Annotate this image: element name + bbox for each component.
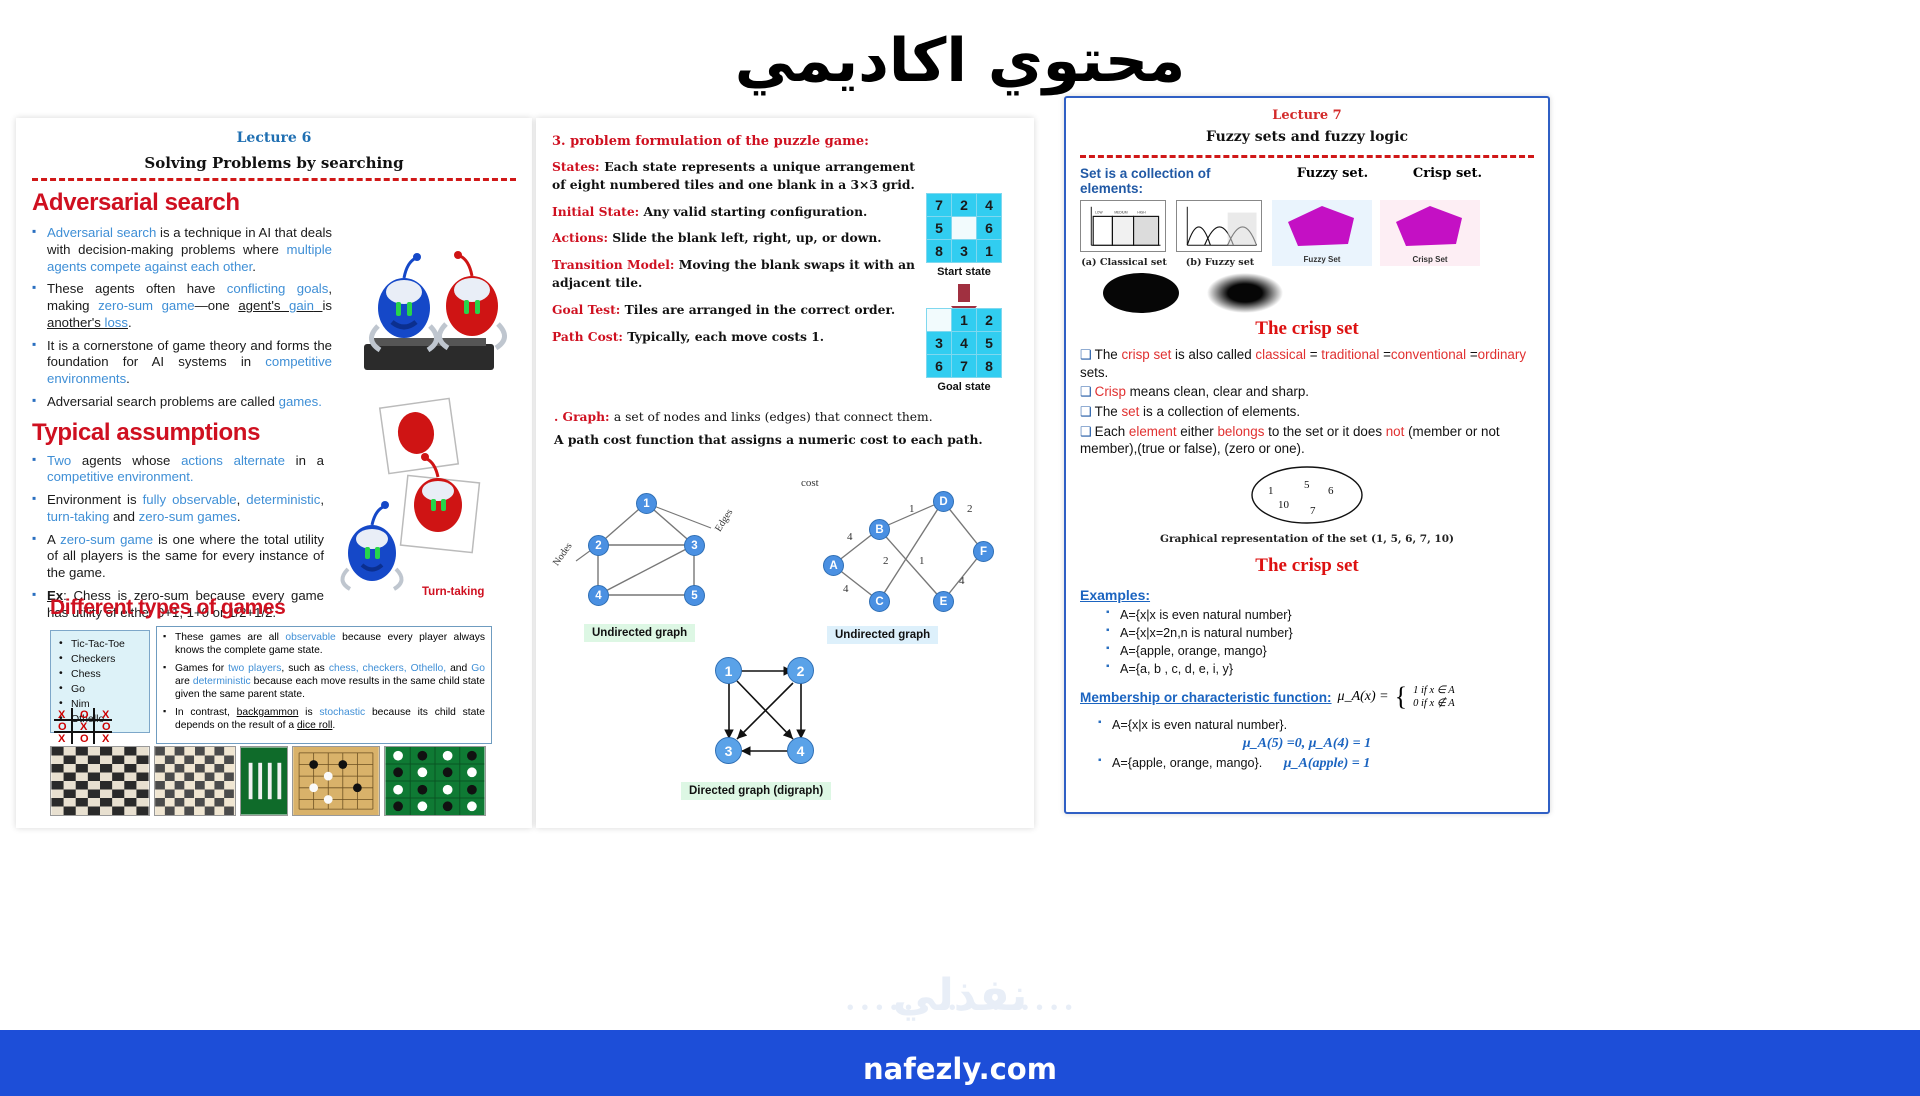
crisp-set-caption: Crisp set. bbox=[1395, 166, 1500, 181]
right-lecture-label: Lecture 7 bbox=[1080, 108, 1534, 123]
undirected-graph-1-edges bbox=[546, 473, 776, 623]
graph-node: 4 bbox=[588, 585, 609, 606]
membership-examples-list: A={x|x is even natural number}. bbox=[1098, 718, 1534, 732]
svg-text:6: 6 bbox=[1328, 485, 1334, 497]
svg-text:HIGH: HIGH bbox=[1137, 211, 1146, 215]
heading-different-types-of-games: Different types of games bbox=[50, 596, 285, 620]
crisp-set-heading-2: The crisp set bbox=[1080, 555, 1534, 577]
list-item: Two agents whose actions alternate in a … bbox=[32, 453, 324, 487]
graph-node: 1 bbox=[636, 493, 657, 514]
svg-text:1: 1 bbox=[1268, 485, 1274, 497]
tic-tac-toe-thumbnail: X O X O X O X O X bbox=[50, 706, 150, 746]
watermark-site: nafezly.com bbox=[0, 1052, 1920, 1086]
chart-b-caption: (b) Fuzzy set bbox=[1176, 257, 1264, 268]
game-board-thumbnails bbox=[50, 746, 505, 816]
graph-definition-block: . Graph: a set of nodes and links (edges… bbox=[554, 408, 994, 458]
directed-graph-caption: Directed graph (digraph) bbox=[681, 782, 831, 800]
list-item: A={a, b , c, d, e, i, y} bbox=[1106, 662, 1534, 676]
graph-node: 1 bbox=[715, 657, 742, 684]
left-bullets-group-1: Adversarial search is a technique in AI … bbox=[32, 225, 332, 411]
nim-sticks-thumbnail bbox=[240, 746, 288, 816]
start-state-group: 724 56 831 Start state bbox=[926, 193, 1002, 322]
crisp-set-bullets: ❑The crisp set is also called classical … bbox=[1080, 346, 1534, 458]
crisp-blob-card: Crisp Set bbox=[1380, 200, 1480, 266]
list-item: Go bbox=[55, 682, 145, 697]
list-item: ❑Each element either belongs to the set … bbox=[1080, 423, 1534, 458]
watermark-dots: • • • • • • • • • • • • • • • • bbox=[0, 997, 1920, 1020]
mid-item-goal-test: Goal Test: Tiles are arranged in the cor… bbox=[552, 301, 915, 319]
membership-function-label: Membership or characteristic function: bbox=[1080, 690, 1332, 705]
fuzzy-set-chart bbox=[1176, 200, 1262, 252]
blurred-ellipse-icon bbox=[1206, 272, 1284, 314]
membership-case-2: 0 if x ∉ A bbox=[1413, 697, 1455, 710]
list-item: ❑The crisp set is also called classical … bbox=[1080, 346, 1534, 381]
brace-icon: { bbox=[1395, 687, 1407, 708]
go-board-thumbnail bbox=[292, 746, 380, 816]
tile: 1 bbox=[952, 309, 977, 332]
goal-state-grid: 12 345 678 bbox=[926, 308, 1002, 378]
mu-line-2: μ_A(apple) = 1 bbox=[1284, 756, 1371, 771]
svg-text:X: X bbox=[80, 721, 88, 733]
edge-weight: 4 bbox=[959, 575, 965, 587]
goal-state-caption: Goal state bbox=[926, 381, 1002, 393]
venn-diagram-group: 1 5 6 10 7 Graphical representation of t… bbox=[1080, 464, 1534, 545]
edge-weight: 2 bbox=[967, 503, 973, 515]
tile-blank bbox=[952, 217, 977, 240]
list-item: ❑Crisp means clean, clear and sharp. bbox=[1080, 383, 1534, 401]
robot-illustration-blue-red bbox=[346, 248, 531, 383]
divider-dotted bbox=[32, 178, 516, 181]
tile-blank bbox=[927, 309, 952, 332]
chess-board-thumbnail bbox=[154, 746, 236, 816]
edge-weight: 1 bbox=[909, 503, 915, 515]
fuzzy-set-caption: Fuzzy set. bbox=[1280, 166, 1385, 181]
mid-item-transition-model: Transition Model: Moving the blank swaps… bbox=[552, 256, 915, 292]
tile: 8 bbox=[977, 355, 1002, 378]
svg-text:O: O bbox=[102, 721, 111, 733]
undirected-graph-2-caption-wrap: Undirected graph bbox=[827, 625, 938, 644]
tile: 6 bbox=[927, 355, 952, 378]
mid-item-path-cost: Path Cost: Typically, each move costs 1. bbox=[552, 328, 915, 346]
ellipse-illustrations bbox=[1102, 272, 1534, 314]
left-lecture-label: Lecture 6 bbox=[32, 130, 516, 146]
list-item: A={x|x is even natural number} bbox=[1106, 608, 1534, 622]
examples-label: Examples: bbox=[1080, 587, 1534, 603]
graph-node: 3 bbox=[684, 535, 705, 556]
goal-state-group: 12 345 678 Goal state bbox=[926, 308, 1002, 393]
othello-board-thumbnail bbox=[384, 746, 486, 816]
list-item: These agents often have conflicting goal… bbox=[32, 281, 332, 331]
edge-weight: 1 bbox=[919, 555, 925, 567]
list-item: A={x|x is even natural number}. bbox=[1098, 718, 1534, 732]
tile: 2 bbox=[977, 309, 1002, 332]
slide-right-lecture7: Lecture 7 Fuzzy sets and fuzzy logic Set… bbox=[1064, 96, 1550, 814]
slide-mid-puzzle-graph: 3. problem formulation of the puzzle gam… bbox=[536, 118, 1034, 828]
left-lecture-subtitle: Solving Problems by searching bbox=[32, 154, 516, 172]
svg-text:O: O bbox=[80, 733, 89, 745]
graph-node: A bbox=[823, 555, 844, 576]
chart-a-caption: (a) Classical set bbox=[1080, 257, 1168, 268]
crisp-set-heading-1: The crisp set bbox=[1080, 318, 1534, 340]
graph-node: C bbox=[869, 591, 890, 612]
graph-node: 4 bbox=[787, 737, 814, 764]
list-item: These games are all observable because e… bbox=[163, 632, 485, 658]
list-item: ❑The set is a collection of elements. bbox=[1080, 403, 1534, 421]
mu-line-1: μ_A(5) =0, μ_A(4) = 1 bbox=[1080, 736, 1534, 752]
svg-text:X: X bbox=[102, 709, 110, 721]
svg-text:X: X bbox=[58, 733, 66, 745]
checkers-board-thumbnail bbox=[50, 746, 150, 816]
undirected-graph-2: cost A B C D E F 4 4 1 2 1 2 4 Undirecte… bbox=[791, 473, 1021, 633]
mid-item-states: States: Each state represents a unique a… bbox=[552, 158, 915, 194]
graph-node: E bbox=[933, 591, 954, 612]
games-notes-list: These games are all observable because e… bbox=[163, 632, 485, 733]
undirected-graph-1: 1 2 3 4 5 Nodes Edges Undirected graph bbox=[546, 473, 776, 633]
undirected-graph-1-caption: Undirected graph bbox=[584, 624, 695, 642]
start-state-grid: 724 56 831 bbox=[926, 193, 1002, 263]
fuzzy-blob-icon bbox=[1282, 204, 1362, 250]
list-item: A={x|x=2n,n is natural number} bbox=[1106, 626, 1534, 640]
mid-item-initial-state: Initial State: Any valid starting config… bbox=[552, 203, 915, 221]
list-item: In contrast, backgammon is stochastic be… bbox=[163, 707, 485, 733]
venn-ellipse-icon: 1 5 6 10 7 bbox=[1242, 464, 1372, 526]
right-lecture-subtitle: Fuzzy sets and fuzzy logic bbox=[1080, 129, 1534, 145]
list-item: Adversarial search problems are called g… bbox=[32, 394, 332, 411]
graph-node: 2 bbox=[787, 657, 814, 684]
robot-illustration-turn-taking bbox=[326, 393, 531, 593]
fuzzy-blob-card: Fuzzy Set bbox=[1272, 200, 1372, 266]
graph-node: 2 bbox=[588, 535, 609, 556]
tile: 3 bbox=[927, 332, 952, 355]
sharp-ellipse-icon bbox=[1102, 272, 1180, 314]
tile: 1 bbox=[977, 240, 1002, 263]
list-item: Tic-Tac-Toe bbox=[55, 637, 145, 652]
tile: 6 bbox=[977, 217, 1002, 240]
tile: 5 bbox=[927, 217, 952, 240]
tile: 4 bbox=[977, 194, 1002, 217]
tile: 4 bbox=[952, 332, 977, 355]
mem-example-2: A={apple, orange, mango}. bbox=[1112, 756, 1262, 770]
graph-node: F bbox=[973, 541, 994, 562]
tile: 7 bbox=[927, 194, 952, 217]
tile: 3 bbox=[952, 240, 977, 263]
graph-node: B bbox=[869, 519, 890, 540]
crisp-blob-tag: Crisp Set bbox=[1380, 255, 1480, 264]
list-item: Checkers bbox=[55, 652, 145, 667]
list-item: It is a cornerstone of game theory and f… bbox=[32, 338, 332, 388]
tile: 5 bbox=[977, 332, 1002, 355]
svg-text:LOW: LOW bbox=[1095, 211, 1103, 215]
crisp-blob-icon bbox=[1390, 204, 1470, 250]
undirected-graph-2-caption: Undirected graph bbox=[827, 626, 938, 644]
path-cost-definition: A path cost function that assigns a nume… bbox=[554, 431, 994, 449]
list-item: A={apple, orange, mango}. μ_A(apple) = 1 bbox=[1098, 756, 1534, 772]
svg-text:MEDIUM: MEDIUM bbox=[1114, 211, 1127, 215]
svg-text:X: X bbox=[102, 733, 110, 745]
slide-left-lecture6: Lecture 6 Solving Problems by searching … bbox=[16, 118, 532, 828]
list-item: A={apple, orange, mango} bbox=[1106, 644, 1534, 658]
tile: 7 bbox=[952, 355, 977, 378]
graph-node: 3 bbox=[715, 737, 742, 764]
examples-list: A={x|x is even natural number} A={x|x=2n… bbox=[1106, 608, 1534, 676]
page-title: محتوي اكاديمي bbox=[0, 26, 1920, 96]
undirected-graph-1-caption-wrap: Undirected graph bbox=[584, 623, 695, 642]
svg-text:O: O bbox=[80, 709, 89, 721]
mid-item-actions: Actions: Slide the blank left, right, up… bbox=[552, 229, 915, 247]
slide-page: محتوي اكاديمي Lecture 6 Solving Problems… bbox=[0, 0, 1920, 1096]
games-notes-box: These games are all observable because e… bbox=[156, 626, 492, 744]
directed-graph-caption-wrap: Directed graph (digraph) bbox=[681, 781, 831, 800]
venn-caption: Graphical representation of the set (1, … bbox=[1080, 533, 1534, 545]
start-state-caption: Start state bbox=[926, 266, 1002, 278]
graph-definition: . Graph: a set of nodes and links (edges… bbox=[554, 408, 994, 427]
edge-weight: 4 bbox=[843, 583, 849, 595]
list-item: Environment is fully observable, determi… bbox=[32, 492, 324, 526]
list-item: A zero-sum game is one where the total u… bbox=[32, 532, 324, 582]
svg-text:O: O bbox=[58, 721, 67, 733]
list-item: Games for two players, such as chess, ch… bbox=[163, 663, 485, 702]
membership-case-1: 1 if x ∈ A bbox=[1413, 684, 1455, 697]
classical-set-chart: LOW MEDIUM HIGH bbox=[1080, 200, 1166, 252]
membership-formula-lhs: μ_A(x) = bbox=[1338, 689, 1389, 705]
graph-node: D bbox=[933, 491, 954, 512]
list-item: Adversarial search is a technique in AI … bbox=[32, 225, 332, 275]
svg-text:X: X bbox=[58, 709, 66, 721]
edge-weight: 4 bbox=[847, 531, 853, 543]
fuzzy-blob-tag: Fuzzy Set bbox=[1272, 255, 1372, 264]
edge-weight: 2 bbox=[883, 555, 889, 567]
tile: 2 bbox=[952, 194, 977, 217]
turn-taking-label: Turn-taking bbox=[422, 586, 484, 598]
list-item: Chess bbox=[55, 667, 145, 682]
membership-examples-list-2: A={apple, orange, mango}. μ_A(apple) = 1 bbox=[1098, 756, 1534, 772]
svg-text:10: 10 bbox=[1278, 499, 1290, 511]
set-collection-heading: Set is a collection of elements: bbox=[1080, 166, 1270, 196]
mid-heading: 3. problem formulation of the puzzle gam… bbox=[552, 134, 915, 149]
svg-text:5: 5 bbox=[1304, 479, 1310, 491]
svg-text:7: 7 bbox=[1310, 505, 1316, 517]
cost-label: cost bbox=[801, 477, 819, 489]
directed-graph: 1 2 3 4 Directed graph (digraph) bbox=[701, 653, 861, 813]
graph-node: 5 bbox=[684, 585, 705, 606]
heading-adversarial-search: Adversarial search bbox=[32, 189, 516, 217]
tile: 8 bbox=[927, 240, 952, 263]
